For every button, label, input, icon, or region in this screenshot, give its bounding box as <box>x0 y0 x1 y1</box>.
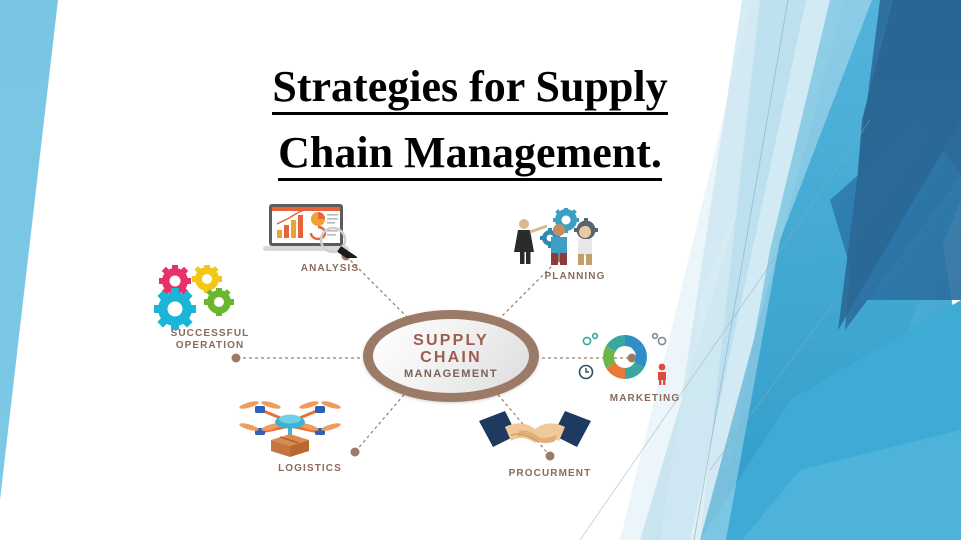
diagram-node-planning[interactable]: PLANNING <box>500 208 650 283</box>
page-title: Strategies for Supply Chain Management. <box>150 54 790 186</box>
diagram-node-marketing[interactable]: MARKETING <box>570 330 720 405</box>
people-gears-icon <box>500 208 650 268</box>
diagram-node-label-marketing: MARKETING <box>570 393 720 405</box>
diagram-node-label-planning: PLANNING <box>500 271 650 283</box>
hub-line-3: MANAGEMENT <box>404 367 498 381</box>
right-steel-shape <box>830 120 961 300</box>
right-bottom-light <box>742 430 961 540</box>
hub-line-2: CHAIN <box>420 349 482 366</box>
left-wedge-shape <box>0 0 58 500</box>
hub-line-1: SUPPLY <box>413 332 489 349</box>
hub-inner: SUPPLY CHAIN MANAGEMENT <box>373 319 529 393</box>
donut-chart-icon <box>570 330 720 390</box>
title-line-2: Chain Management. <box>150 120 790 186</box>
diagram-node-label-procurment: PROCURMENT <box>475 468 625 480</box>
supply-chain-diagram: SUPPLY CHAIN MANAGEMENT <box>150 200 770 500</box>
title-line-1-text: Strategies for Supply <box>272 62 667 115</box>
colored-gears-icon <box>135 265 285 325</box>
diagram-node-analysis[interactable]: ANALYSIS <box>255 200 405 275</box>
diagram-node-operation[interactable]: SUCCESSFUL OPERATION <box>135 265 285 352</box>
slide-canvas: Strategies for Supply Chain Management. <box>0 0 961 540</box>
delivery-drone-icon <box>235 400 385 460</box>
diagram-node-label-operation: SUCCESSFUL OPERATION <box>135 328 285 352</box>
right-dark-strip <box>845 0 961 330</box>
laptop-bar-chart-magnifier-icon <box>255 200 405 260</box>
title-line-1: Strategies for Supply <box>150 54 790 120</box>
diagram-node-logistics[interactable]: LOGISTICS <box>235 400 385 475</box>
diagram-hub: SUPPLY CHAIN MANAGEMENT <box>363 310 539 402</box>
right-dark-triangle <box>838 0 961 330</box>
handshake-icon <box>475 405 625 465</box>
connector-dot-operation <box>232 354 241 363</box>
title-line-2-text: Chain Management. <box>278 128 662 181</box>
diagram-node-procurment[interactable]: PROCURMENT <box>475 405 625 480</box>
diagram-node-label-logistics: LOGISTICS <box>235 463 385 475</box>
